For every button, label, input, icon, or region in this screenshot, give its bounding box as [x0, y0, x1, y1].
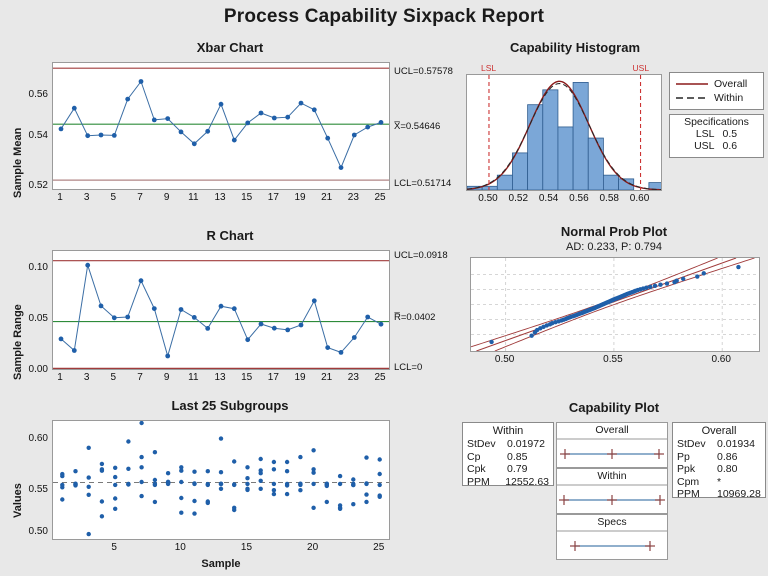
legend-label-within: Within	[714, 92, 758, 104]
last25-point-97	[311, 471, 315, 475]
xbar-xticks-10: 21	[313, 192, 341, 203]
capability-plot-title: Capability Plot	[460, 400, 768, 415]
last25-point-20	[113, 466, 117, 470]
r-point-8	[152, 306, 157, 311]
histogram-bars	[467, 82, 661, 190]
last25-point-4	[60, 483, 64, 487]
probplot-plot-area	[470, 257, 760, 352]
within-stat-row-cpk: Cpk 0.79	[467, 463, 549, 476]
last25-point-30	[139, 421, 143, 425]
r-center-label: R̅=0.0402	[394, 312, 435, 323]
last25-point-61	[219, 470, 223, 474]
xbar-point-22	[339, 165, 344, 170]
spec-row-usl: USL 0.6	[670, 140, 763, 152]
last25-point-35	[153, 450, 157, 454]
last25-point-17	[100, 469, 104, 473]
xbar-point-16	[259, 111, 264, 116]
overall-stat-key-pp: Pp	[677, 451, 717, 464]
overall-stat-key-cpm: Cpm	[677, 476, 717, 489]
probplot-point-77	[695, 274, 699, 278]
last25-point-46	[179, 469, 183, 473]
xbar-xticks-3: 7	[126, 192, 154, 203]
r-xticks-6: 13	[206, 372, 234, 383]
last25-point-78	[259, 479, 263, 483]
last25-point-59	[206, 483, 210, 487]
probplot-point-71	[653, 284, 657, 288]
r-xticks-2: 5	[99, 372, 127, 383]
overall-stat-value-ppk: 0.80	[717, 463, 761, 476]
within-stat-key-cp: Cp	[467, 451, 507, 464]
xbar-point-2	[72, 106, 77, 111]
xbar-xticks-7: 15	[233, 192, 261, 203]
xbar-point-15	[245, 121, 250, 126]
probplot-point-73	[665, 281, 669, 285]
overall-stat-row-stdev: StDev 0.01934	[677, 438, 761, 451]
last25-point-113	[351, 502, 355, 506]
overall-stat-row-ppm: PPM 10969.28	[677, 488, 761, 501]
l25-xticks-4: 25	[365, 542, 393, 553]
l25-xticks-3: 20	[299, 542, 327, 553]
r-point-11	[192, 315, 197, 320]
xbar-point-23	[352, 133, 357, 138]
last25-point-11	[87, 475, 91, 479]
probplot-svg	[471, 258, 759, 351]
r-xticks-11: 23	[339, 372, 367, 383]
last25-point-55	[206, 469, 210, 473]
last25-point-14	[87, 485, 91, 489]
r-ucl-label: UCL=0.0918	[394, 250, 448, 261]
probplot-point-75	[675, 278, 679, 282]
overall-stat-value-stdev: 0.01934	[717, 438, 761, 451]
last25-point-60	[219, 436, 223, 440]
xbar-chart-title: Xbar Chart	[0, 40, 460, 55]
xbar-point-7	[139, 79, 144, 84]
within-stat-row-cp: Cp 0.85	[467, 451, 549, 464]
xbar-ytick-1: 0.54	[16, 130, 48, 141]
histogram-usl-tag: USL	[633, 63, 650, 73]
xbar-point-17	[272, 116, 277, 121]
xbar-point-14	[232, 138, 237, 143]
histogram-panel: Capability Histogram LSL USL 0.500.520.5…	[460, 40, 768, 220]
r-point-6	[125, 315, 130, 320]
within-stats-box: Within StDev 0.01972 Cp 0.85 Cpk 0.79 PP…	[462, 422, 554, 486]
last25-point-77	[259, 471, 263, 475]
xbar-xticks-6: 13	[206, 192, 234, 203]
last25-point-124	[378, 483, 382, 487]
r-point-22	[339, 350, 344, 355]
xbar-center-label: X̅=0.54646	[394, 121, 440, 132]
xbar-xticks-4: 9	[153, 192, 181, 203]
last25-point-83	[272, 492, 276, 496]
r-point-9	[165, 354, 170, 359]
last25-point-123	[378, 495, 382, 499]
last25-point-109	[338, 482, 342, 486]
xbar-ytick-2: 0.56	[16, 89, 48, 100]
r-xticks-7: 15	[233, 372, 261, 383]
last25-ytick-2: 0.60	[12, 433, 48, 444]
histogram-title: Capability Histogram	[460, 40, 690, 55]
spec-value-usl: 0.6	[723, 140, 745, 152]
last25-point-117	[364, 492, 368, 496]
xbar-point-19	[299, 101, 304, 106]
r-ytick-2: 0.10	[12, 262, 48, 273]
xbar-point-21	[325, 136, 330, 141]
xbar-point-9	[165, 116, 170, 121]
within-stat-key-cpk: Cpk	[467, 463, 507, 476]
last25-point-24	[113, 483, 117, 487]
within-stat-row-ppm: PPM 12552.63	[467, 476, 549, 489]
last25-point-118	[364, 500, 368, 504]
hist-xticks-5: 0.60	[626, 193, 654, 204]
probplot-point-78	[702, 271, 706, 275]
histogram-bar-3	[512, 153, 527, 190]
probplot-point-1	[529, 334, 533, 338]
capability-interval-specs	[557, 515, 667, 559]
last25-point-99	[311, 482, 315, 486]
r-series-markers	[59, 263, 384, 359]
report-canvas: Process Capability Sixpack Report Xbar C…	[0, 0, 768, 576]
last25-point-89	[285, 482, 289, 486]
xbar-point-10	[179, 130, 184, 135]
r-ytick-0: 0.00	[12, 364, 48, 375]
last25-point-82	[272, 488, 276, 492]
pp-xticks-0: 0.50	[491, 354, 519, 365]
xbar-point-12	[205, 129, 210, 134]
pp-xticks-1: 0.55	[599, 354, 627, 365]
last25-point-22	[113, 496, 117, 500]
specifications-title: Specifications	[670, 115, 763, 128]
xbar-point-25	[379, 120, 384, 125]
within-stat-value-ppm: 12552.63	[505, 476, 549, 489]
last25-point-50	[192, 470, 196, 474]
probplot-subtitle: AD: 0.233, P: 0.794	[460, 241, 768, 253]
r-point-13	[219, 304, 224, 309]
r-point-10	[179, 307, 184, 312]
last25-point-69	[232, 483, 236, 487]
legend-solid-line-icon	[675, 80, 709, 88]
last25-point-68	[232, 508, 236, 512]
last25-point-39	[153, 482, 157, 486]
within-stat-value-cpk: 0.79	[507, 463, 549, 476]
r-xticks-3: 7	[126, 372, 154, 383]
last25-point-12	[87, 493, 91, 497]
legend-label-overall: Overall	[714, 78, 758, 90]
r-point-20	[312, 298, 317, 303]
last25-point-33	[139, 494, 143, 498]
spec-row-lsl: LSL 0.5	[670, 128, 763, 140]
last25-point-94	[298, 483, 302, 487]
last25-point-88	[285, 492, 289, 496]
probplot-point-69	[644, 285, 648, 289]
r-plot-svg	[53, 251, 389, 369]
last25-point-62	[219, 487, 223, 491]
last25-point-53	[192, 511, 196, 515]
legend-dashed-line-icon	[675, 94, 709, 102]
last25-point-70	[245, 465, 249, 469]
last25-point-29	[126, 482, 130, 486]
last25-point-19	[100, 514, 104, 518]
pp-xticks-2: 0.60	[707, 354, 735, 365]
r-plot-area	[52, 250, 390, 370]
r-xticks-12: 25	[366, 372, 394, 383]
xbar-point-4	[99, 133, 104, 138]
last25-point-98	[311, 506, 315, 510]
r-xticks-4: 9	[153, 372, 181, 383]
r-point-1	[59, 337, 64, 342]
r-xticks-5: 11	[179, 372, 207, 383]
probplot-point-70	[648, 285, 652, 289]
xbar-lcl-label: LCL=0.51714	[394, 178, 451, 189]
last25-point-64	[219, 482, 223, 486]
xbar-point-24	[365, 125, 370, 130]
last25-point-92	[298, 488, 302, 492]
capability-interval-within	[557, 469, 667, 513]
last25-point-86	[285, 469, 289, 473]
last25-point-10	[87, 446, 91, 450]
last25-point-47	[179, 496, 183, 500]
last25-point-110	[351, 477, 355, 481]
r-point-2	[72, 348, 77, 353]
last25-point-108	[338, 507, 342, 511]
xbar-xticks-5: 11	[179, 192, 207, 203]
r-chart-panel: R Chart Sample Range 0.00 0.05 0.10 1357…	[0, 228, 460, 393]
capability-interval-overall	[557, 423, 667, 467]
hist-xticks-4: 0.58	[595, 193, 623, 204]
r-point-4	[99, 304, 104, 309]
xbar-xticks-2: 5	[99, 192, 127, 203]
r-point-14	[232, 306, 237, 311]
overall-stat-value-ppm: 10969.28	[717, 488, 761, 501]
last25-plot-svg	[53, 421, 389, 539]
r-point-5	[112, 315, 117, 320]
last25-point-15	[100, 462, 104, 466]
xbar-point-20	[312, 107, 317, 112]
within-stat-key-stdev: StDev	[467, 438, 507, 451]
overall-stat-row-pp: Pp 0.86	[677, 451, 761, 464]
last25-point-40	[166, 471, 170, 475]
xbar-xticks-11: 23	[339, 192, 367, 203]
last25-point-21	[113, 475, 117, 479]
xbar-point-11	[192, 141, 197, 146]
within-stat-key-ppm: PPM	[467, 476, 505, 489]
last25-point-23	[113, 507, 117, 511]
xbar-point-1	[59, 127, 64, 132]
r-point-19	[299, 323, 304, 328]
overall-stats-title: Overall	[677, 425, 761, 437]
last25-point-84	[272, 482, 276, 486]
last25-point-34	[139, 480, 143, 484]
last25-point-1	[60, 472, 64, 476]
last25-point-95	[311, 448, 315, 452]
last25-point-48	[179, 511, 183, 515]
r-point-16	[259, 322, 264, 327]
last25-point-121	[378, 472, 382, 476]
hist-xticks-2: 0.54	[535, 193, 563, 204]
last25-x-axis-title: Sample	[52, 558, 390, 570]
legend-item-within: Within	[670, 91, 763, 105]
last25-series-markers	[60, 421, 382, 536]
r-point-21	[325, 345, 330, 350]
r-point-3	[85, 263, 90, 268]
last25-point-80	[272, 460, 276, 464]
l25-xticks-1: 10	[166, 542, 194, 553]
last25-point-85	[285, 460, 289, 464]
last25-point-9	[73, 482, 77, 486]
probplot-point-76	[681, 277, 685, 281]
xbar-point-3	[85, 133, 90, 138]
last25-ytick-1: 0.55	[12, 484, 48, 495]
histogram-bar-8	[588, 138, 603, 190]
last25-point-32	[139, 465, 143, 469]
histogram-bar-1	[482, 186, 497, 190]
last25-point-71	[245, 476, 249, 480]
r-chart-title: R Chart	[0, 228, 460, 243]
capability-cell-specs: Specs	[556, 514, 668, 560]
xbar-plot-svg	[53, 63, 389, 189]
probplot-point-0	[489, 340, 493, 344]
within-stat-value-cp: 0.85	[507, 451, 549, 464]
xbar-ucl-label: UCL=0.57578	[394, 66, 453, 77]
spec-value-lsl: 0.5	[723, 128, 745, 140]
overall-stat-key-stdev: StDev	[677, 438, 717, 451]
l25-xticks-2: 15	[232, 542, 260, 553]
specifications-box: Specifications LSL 0.5 USL 0.6	[669, 114, 764, 158]
xbar-point-13	[219, 102, 224, 107]
xbar-point-18	[285, 115, 290, 120]
histogram-lsl-tag: LSL	[481, 63, 496, 73]
xbar-point-5	[112, 133, 117, 138]
last25-point-13	[87, 532, 91, 536]
last25-point-101	[325, 500, 329, 504]
page-title: Process Capability Sixpack Report	[0, 6, 768, 28]
r-point-23	[352, 335, 357, 340]
last25-point-74	[245, 482, 249, 486]
overall-stats-box: Overall StDev 0.01934 Pp 0.86 Ppk 0.80 C…	[672, 422, 766, 498]
probplot-point-79	[736, 265, 740, 269]
r-point-17	[272, 326, 277, 331]
last25-point-31	[139, 455, 143, 459]
legend-item-overall: Overall	[670, 77, 763, 91]
last25-point-25	[126, 439, 130, 443]
spec-name-lsl: LSL	[689, 128, 715, 140]
last25-point-5	[73, 469, 77, 473]
spec-name-usl: USL	[689, 140, 715, 152]
last25-point-120	[378, 457, 382, 461]
r-xticks-10: 21	[313, 372, 341, 383]
xbar-chart-panel: Xbar Chart Sample Mean 0.52 0.54 0.56 13…	[0, 40, 460, 220]
last25-point-114	[351, 483, 355, 487]
l25-xticks-0: 5	[100, 542, 128, 553]
last25-ytick-0: 0.50	[12, 526, 48, 537]
last25-point-52	[192, 499, 196, 503]
overall-stat-value-cpm: *	[717, 476, 761, 489]
within-stats-title: Within	[467, 425, 549, 437]
last25-point-90	[298, 455, 302, 459]
r-xticks-9: 19	[286, 372, 314, 383]
last25-point-73	[245, 488, 249, 492]
xbar-xticks-0: 1	[46, 192, 74, 203]
hist-xticks-1: 0.52	[504, 193, 532, 204]
r-ytick-1: 0.05	[12, 313, 48, 324]
last25-point-79	[259, 487, 263, 491]
r-xticks-1: 3	[73, 372, 101, 383]
last25-point-38	[153, 500, 157, 504]
xbar-plot-area	[52, 62, 390, 190]
last25-point-104	[325, 483, 329, 487]
histogram-bar-4	[528, 105, 543, 190]
overall-stat-key-ppk: Ppk	[677, 463, 717, 476]
last25-plot-area	[52, 420, 390, 540]
overall-stat-key-ppm: PPM	[677, 488, 717, 501]
last25-panel: Last 25 Subgroups Values 0.50 0.55 0.60 …	[0, 398, 460, 576]
xbar-xticks-8: 17	[259, 192, 287, 203]
r-point-12	[205, 326, 210, 331]
histogram-svg	[467, 75, 661, 190]
capability-plot-panel: Capability Plot Within StDev 0.01972 Cp …	[460, 400, 768, 576]
last25-point-75	[259, 457, 263, 461]
r-point-25	[379, 322, 384, 327]
histogram-bar-5	[543, 90, 558, 190]
r-xticks-0: 1	[46, 372, 74, 383]
overall-stat-row-ppk: Ppk 0.80	[677, 463, 761, 476]
r-point-15	[245, 337, 250, 342]
last25-point-44	[166, 482, 170, 486]
last25-point-58	[206, 501, 210, 505]
r-point-18	[285, 328, 290, 333]
hist-xticks-0: 0.50	[474, 193, 502, 204]
r-xticks-8: 17	[259, 372, 287, 383]
last25-point-119	[364, 482, 368, 486]
last25-point-54	[192, 482, 196, 486]
histogram-bar-6	[558, 127, 573, 190]
xbar-xticks-1: 3	[73, 192, 101, 203]
last25-point-18	[100, 499, 104, 503]
probplot-point-72	[658, 283, 662, 287]
last25-title: Last 25 Subgroups	[0, 398, 460, 413]
hist-xticks-3: 0.56	[565, 193, 593, 204]
r-point-7	[139, 278, 144, 283]
xbar-xticks-9: 19	[286, 192, 314, 203]
r-point-24	[365, 315, 370, 320]
within-stat-row-stdev: StDev 0.01972	[467, 438, 549, 451]
probplot-title: Normal Prob Plot	[460, 224, 768, 239]
r-series-line	[61, 265, 381, 356]
last25-point-81	[272, 467, 276, 471]
overall-stat-value-pp: 0.86	[717, 451, 761, 464]
xbar-xticks-12: 25	[366, 192, 394, 203]
last25-point-26	[126, 467, 130, 471]
xbar-ytick-0: 0.52	[16, 180, 48, 191]
r-lcl-label: LCL=0	[394, 362, 422, 373]
xbar-point-6	[125, 97, 130, 102]
last25-point-3	[60, 497, 64, 501]
capability-cell-within: Within	[556, 468, 668, 514]
last25-point-65	[232, 459, 236, 463]
histogram-bar-9	[603, 175, 618, 190]
histogram-plot-area	[466, 74, 662, 191]
capability-cell-overall: Overall	[556, 422, 668, 468]
last25-point-36	[153, 478, 157, 482]
histogram-legend: Overall Within	[669, 72, 764, 110]
probplot-panel: Normal Prob Plot AD: 0.233, P: 0.794 0.5…	[460, 224, 768, 394]
last25-point-105	[338, 474, 342, 478]
xbar-point-8	[152, 118, 157, 123]
overall-stat-row-cpm: Cpm *	[677, 476, 761, 489]
last25-point-49	[179, 480, 183, 484]
within-stat-value-stdev: 0.01972	[507, 438, 549, 451]
last25-point-115	[364, 455, 368, 459]
